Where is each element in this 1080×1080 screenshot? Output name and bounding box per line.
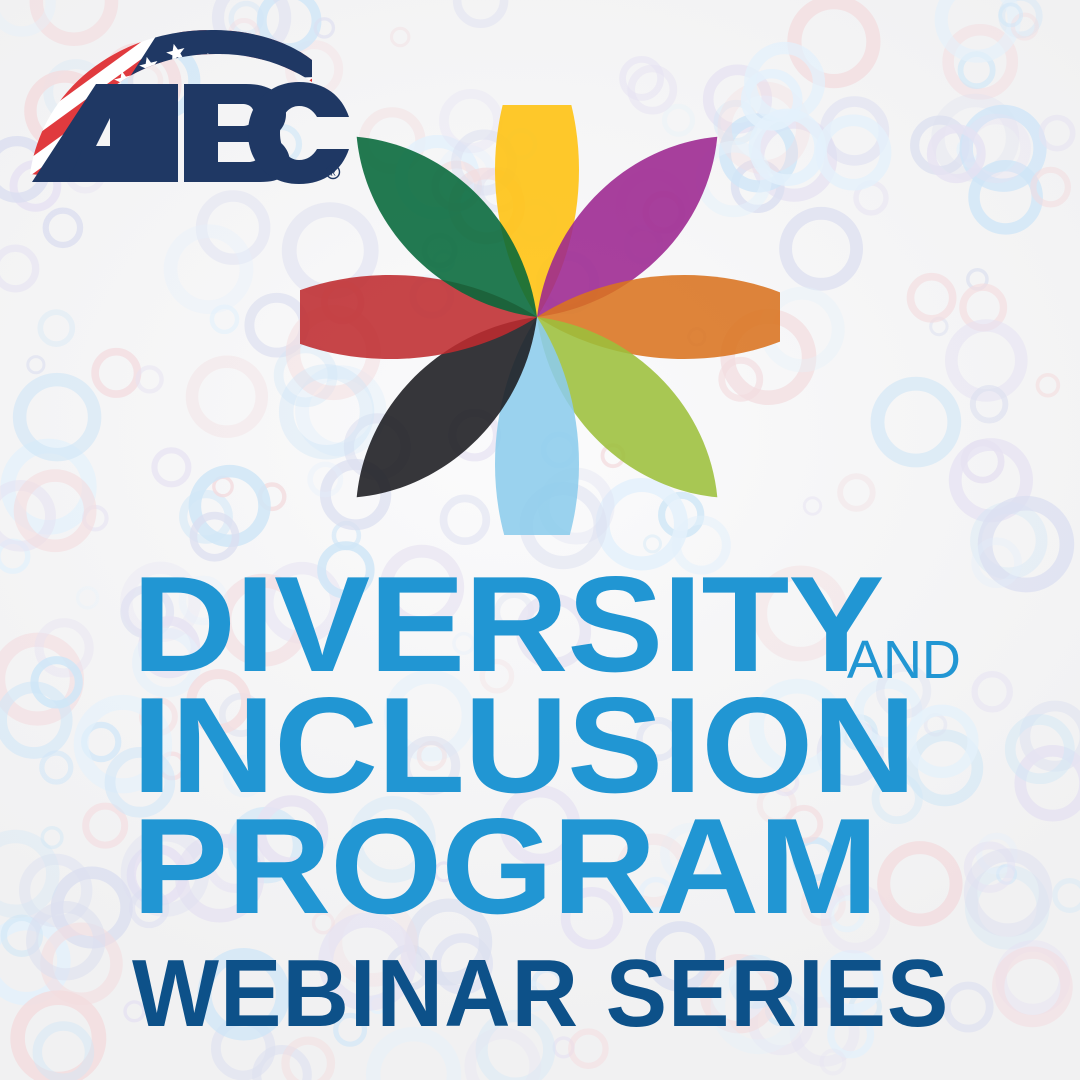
background-ring (86, 806, 125, 845)
background-ring (40, 312, 72, 344)
diversity-flower-graphic (300, 105, 780, 535)
background-ring (786, 213, 857, 284)
background-ring (95, 352, 137, 394)
background-ring (78, 588, 98, 608)
background-ring (878, 384, 955, 461)
background-ring (1038, 375, 1059, 396)
background-ring (392, 28, 409, 45)
background-ring (0, 248, 36, 289)
headline-program: PROGRAM (132, 808, 1080, 925)
subheadline-webinar-series: WEBINAR SERIES (132, 939, 1015, 1049)
background-ring (623, 59, 661, 97)
background-ring (457, 0, 504, 24)
poster-canvas: R DIVERSITY AND INCLUSION PROGRAM WEBINA… (0, 0, 1080, 1080)
background-ring (804, 498, 820, 514)
background-ring (1042, 118, 1073, 149)
headline-diversity: DIVERSITY (132, 566, 883, 683)
headline-inclusion: INCLUSION (132, 687, 1080, 804)
background-ring (192, 362, 262, 432)
background-ring (951, 326, 1021, 396)
background-ring (37, 1026, 89, 1078)
headline-row-1: DIVERSITY AND (132, 566, 1052, 683)
background-ring (911, 277, 953, 319)
background-ring (794, 2, 873, 81)
background-ring (42, 753, 71, 782)
background-ring (138, 367, 162, 391)
background-ring (46, 211, 80, 245)
background-ring (28, 357, 44, 373)
background-ring (154, 450, 188, 484)
background-ring (840, 476, 873, 509)
headline-block: DIVERSITY AND INCLUSION PROGRAM WEBINAR … (132, 566, 1052, 1049)
